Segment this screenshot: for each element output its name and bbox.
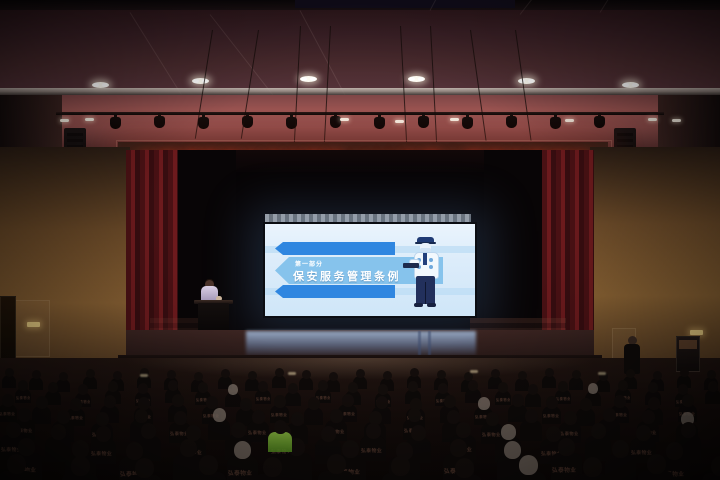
attendee-head [486, 412, 499, 426]
attendee-head [707, 370, 716, 379]
slide-arrow-bottom [275, 285, 395, 298]
attendee-head [618, 380, 628, 391]
uniform-back-text: 弘泰物业 [271, 413, 287, 418]
security-guard-illustration [408, 237, 442, 309]
guard-leg-split [425, 282, 426, 304]
light-body [506, 116, 517, 128]
attendee-head [456, 422, 471, 438]
attendee-head [321, 426, 336, 442]
attendee-head [391, 456, 410, 476]
light-body [462, 117, 473, 129]
attendee-head [18, 380, 28, 391]
attendee-head [174, 411, 187, 425]
downlight-icon [192, 78, 209, 84]
lighting-truss-bar [56, 112, 664, 115]
wire-light [340, 118, 349, 121]
downlight-icon [408, 76, 425, 82]
attendee-head [444, 395, 456, 408]
attendee-head [275, 368, 284, 377]
attendee-head [525, 409, 538, 423]
uniform-back-text: 弘泰物业 [16, 395, 31, 400]
light-body [374, 117, 385, 129]
ceiling [0, 0, 720, 92]
wire-light [85, 118, 94, 121]
hi-vis-attendee-head [274, 420, 287, 434]
stage-light-fixture [506, 113, 517, 128]
attendee-head [564, 411, 577, 425]
attendee-head [228, 384, 238, 395]
attendee-head [528, 384, 538, 395]
attendee-head [558, 381, 568, 392]
attendee-head [2, 394, 14, 407]
attendee-head [180, 439, 197, 457]
attendee-head [206, 396, 218, 409]
attendee-head [438, 383, 448, 394]
uniform-back-text: 弘泰物业 [560, 431, 579, 437]
attendee-head [6, 422, 21, 438]
attendee-head [478, 397, 490, 410]
attendee-head [383, 371, 392, 380]
attendee-head [291, 412, 304, 426]
attendee-head [378, 384, 388, 395]
stage-floor-reflection [246, 331, 476, 356]
attendee-head [648, 397, 660, 410]
guard-badge [429, 265, 433, 269]
attendee-torso [605, 455, 636, 480]
soffit-edge [0, 88, 720, 95]
attendee-head [252, 410, 265, 424]
attendee-head [318, 380, 328, 391]
attendee-head [648, 382, 658, 393]
aisle-light [598, 372, 606, 375]
attendee-head [647, 454, 666, 474]
attendee-head [86, 369, 95, 378]
attendee-head [172, 394, 184, 407]
attendee-head [450, 439, 467, 457]
attendee-head [138, 383, 148, 394]
side-cabinet [676, 336, 700, 372]
attendee-head [199, 455, 218, 475]
attendee-head [455, 458, 474, 478]
attendee-head [167, 370, 176, 379]
stage-light-fixture [154, 113, 165, 128]
slide-kicker-text: 第一部分 [295, 259, 323, 268]
floor-reflection-streak [428, 331, 431, 355]
attendee-head [612, 440, 629, 458]
attendee-head [666, 442, 683, 460]
attendee-head [194, 372, 203, 381]
attendee-head [376, 396, 388, 409]
attendee-head [36, 396, 48, 409]
side-cabinet-screen [679, 340, 697, 349]
attendee-head [681, 422, 696, 438]
attendee-head [348, 382, 358, 393]
uniform-back-text: 弘泰物业 [556, 396, 571, 401]
uniform-back-text: 弘泰物业 [248, 430, 267, 436]
uniform-back-text: 弘泰物业 [91, 450, 112, 457]
attendee-head [135, 409, 148, 423]
attendee-torso [520, 420, 542, 441]
attendee-head [642, 410, 655, 424]
stage-light-fixture [374, 114, 385, 129]
uniform-back-text: 弘泰物业 [0, 412, 15, 417]
attendee-torso [32, 406, 51, 424]
ceiling-dark-panel [295, 0, 515, 8]
attendee-head [7, 454, 26, 474]
attendee-head [274, 395, 286, 408]
screen-top-hood [265, 214, 471, 222]
side-wall-right [590, 147, 720, 387]
uniform-back-text: 弘泰物业 [543, 414, 559, 419]
attendee-head [234, 441, 251, 459]
stage-light-fixture [418, 113, 429, 128]
aisle-light [470, 370, 478, 373]
attendee-head [126, 442, 143, 460]
attendee-head [240, 398, 252, 411]
guard-shoe-right [427, 303, 436, 307]
attendee-head [519, 455, 538, 475]
wall-door-left [0, 296, 16, 360]
attendee-head [518, 371, 527, 380]
attendee-head [591, 423, 606, 439]
attendee-head [636, 425, 651, 441]
light-body [154, 116, 165, 128]
stage-light-fixture [462, 114, 473, 129]
wire-light [450, 118, 459, 121]
uniform-back-text: 弘泰物业 [552, 466, 576, 474]
stage-masking-right [484, 150, 542, 330]
hi-vis-attendee [268, 432, 292, 452]
stage-light-fixture [550, 114, 561, 129]
truss-wall-left-shadow [0, 95, 62, 147]
light-body [594, 116, 605, 128]
attendee-head [588, 383, 598, 394]
slide-arrow-top [275, 242, 395, 255]
stage-light-fixture [198, 114, 209, 129]
guard-tie [423, 253, 427, 265]
attendee-torso [508, 404, 527, 422]
attendee-head [512, 394, 524, 407]
attendee-head [141, 423, 156, 439]
attendee-head [113, 371, 122, 380]
attendee-torso [576, 408, 595, 426]
attendee-head [498, 382, 508, 393]
guard-shoe-left [414, 303, 423, 307]
attendee-head [682, 394, 694, 407]
attendee-head [138, 397, 150, 410]
light-body [198, 117, 209, 129]
exit-sign-right [690, 330, 703, 335]
attendee-head [546, 426, 561, 442]
wire-light [395, 120, 404, 123]
attendee-head [411, 425, 426, 441]
attendee-head [32, 370, 41, 379]
attendee-head [96, 412, 109, 426]
slide-content: 第一部分 保安服务管理条例 [265, 224, 475, 316]
aisle-light [140, 374, 148, 377]
attendee-head [329, 372, 338, 381]
attendee-head [330, 409, 343, 423]
attendee-head [108, 381, 118, 392]
slide-title-text: 保安服务管理条例 [293, 268, 401, 284]
truss-wall-right-shadow [658, 95, 720, 147]
attendee-head [572, 370, 581, 379]
attendee-torso [304, 407, 323, 425]
stage-light-fixture [330, 113, 341, 128]
guard-badge [429, 258, 433, 262]
uniform-back-text: 弘泰物业 [631, 449, 652, 456]
attendee-head [491, 369, 500, 378]
attendee-head [708, 381, 718, 392]
attendee-head [342, 394, 354, 407]
wire-light [672, 119, 681, 122]
attendee-head [71, 456, 90, 476]
light-body [418, 116, 429, 128]
attendee-head [198, 382, 208, 393]
stage-light-fixture [110, 114, 121, 129]
attendee-head [308, 397, 320, 410]
attendee-head [135, 458, 154, 478]
attendee-head [410, 368, 419, 377]
aisle-light [288, 372, 296, 375]
downlight-icon [300, 76, 317, 82]
attendee-head [96, 426, 111, 442]
attendee-head [580, 398, 592, 411]
attendee-head [51, 424, 66, 440]
attendee-head [501, 424, 516, 440]
attendee-head [104, 395, 116, 408]
attendee-head [57, 410, 70, 424]
attendee-head [258, 381, 268, 392]
attendee-head [583, 457, 602, 477]
stage-curtain-left [126, 150, 178, 330]
attendee-head [263, 457, 282, 477]
attendee-head [5, 368, 14, 377]
light-body [550, 117, 561, 129]
attendee-head [545, 368, 554, 377]
attendee-head [213, 408, 226, 422]
attendee-head [504, 441, 521, 459]
attendee-head [78, 384, 88, 395]
uniform-back-text: 弘泰物业 [496, 397, 511, 402]
presentation-screen: 第一部分 保安服务管理条例 [263, 222, 477, 318]
attendee-head [653, 371, 662, 380]
wire-light [60, 119, 69, 122]
attendee-head [231, 422, 246, 438]
attendee-head [168, 380, 178, 391]
attendee-head [327, 454, 346, 474]
attendee-head [678, 384, 688, 395]
attendee-head [288, 383, 298, 394]
attendee-head [356, 369, 365, 378]
attendee-head [408, 381, 418, 392]
attendee-head [408, 408, 421, 422]
attendee-head [626, 369, 635, 378]
attendee-head [603, 408, 616, 422]
stage-light-fixture [594, 113, 605, 128]
exit-sign-left [27, 322, 40, 327]
attendee-head [437, 370, 446, 379]
wire-light [648, 118, 657, 121]
downlight-icon [518, 78, 535, 84]
floor-reflection-streak [418, 331, 421, 355]
uniform-back-text: 弘泰物业 [256, 396, 271, 401]
light-body [110, 117, 121, 129]
attendee-head [447, 410, 460, 424]
guard-clipboard-icon [403, 263, 419, 268]
uniform-back-text: 弘泰物业 [361, 447, 382, 454]
auditorium-photo: 广西威振保安培训学校 2023年第二期保安员培训 第一部分 保安服务管理条例 [0, 0, 720, 480]
attendee-head [48, 382, 58, 393]
attendee-head [18, 408, 31, 422]
attendee-head [614, 395, 626, 408]
attendee-head [680, 368, 689, 377]
attendee-head [342, 440, 359, 458]
attendee-head [366, 423, 381, 439]
wire-light [565, 119, 574, 122]
attendee-head [248, 371, 257, 380]
attendee-head [18, 438, 35, 456]
uniform-back-text: 弘泰物业 [228, 469, 252, 477]
attendee-head [558, 438, 575, 456]
attendee-head [468, 380, 478, 391]
attendee-head [221, 369, 230, 378]
stage-curtain-right [542, 150, 594, 330]
attendee-head [302, 370, 311, 379]
attendee-head [59, 372, 68, 381]
attendee-head [70, 398, 82, 411]
attendee-head [546, 396, 558, 409]
